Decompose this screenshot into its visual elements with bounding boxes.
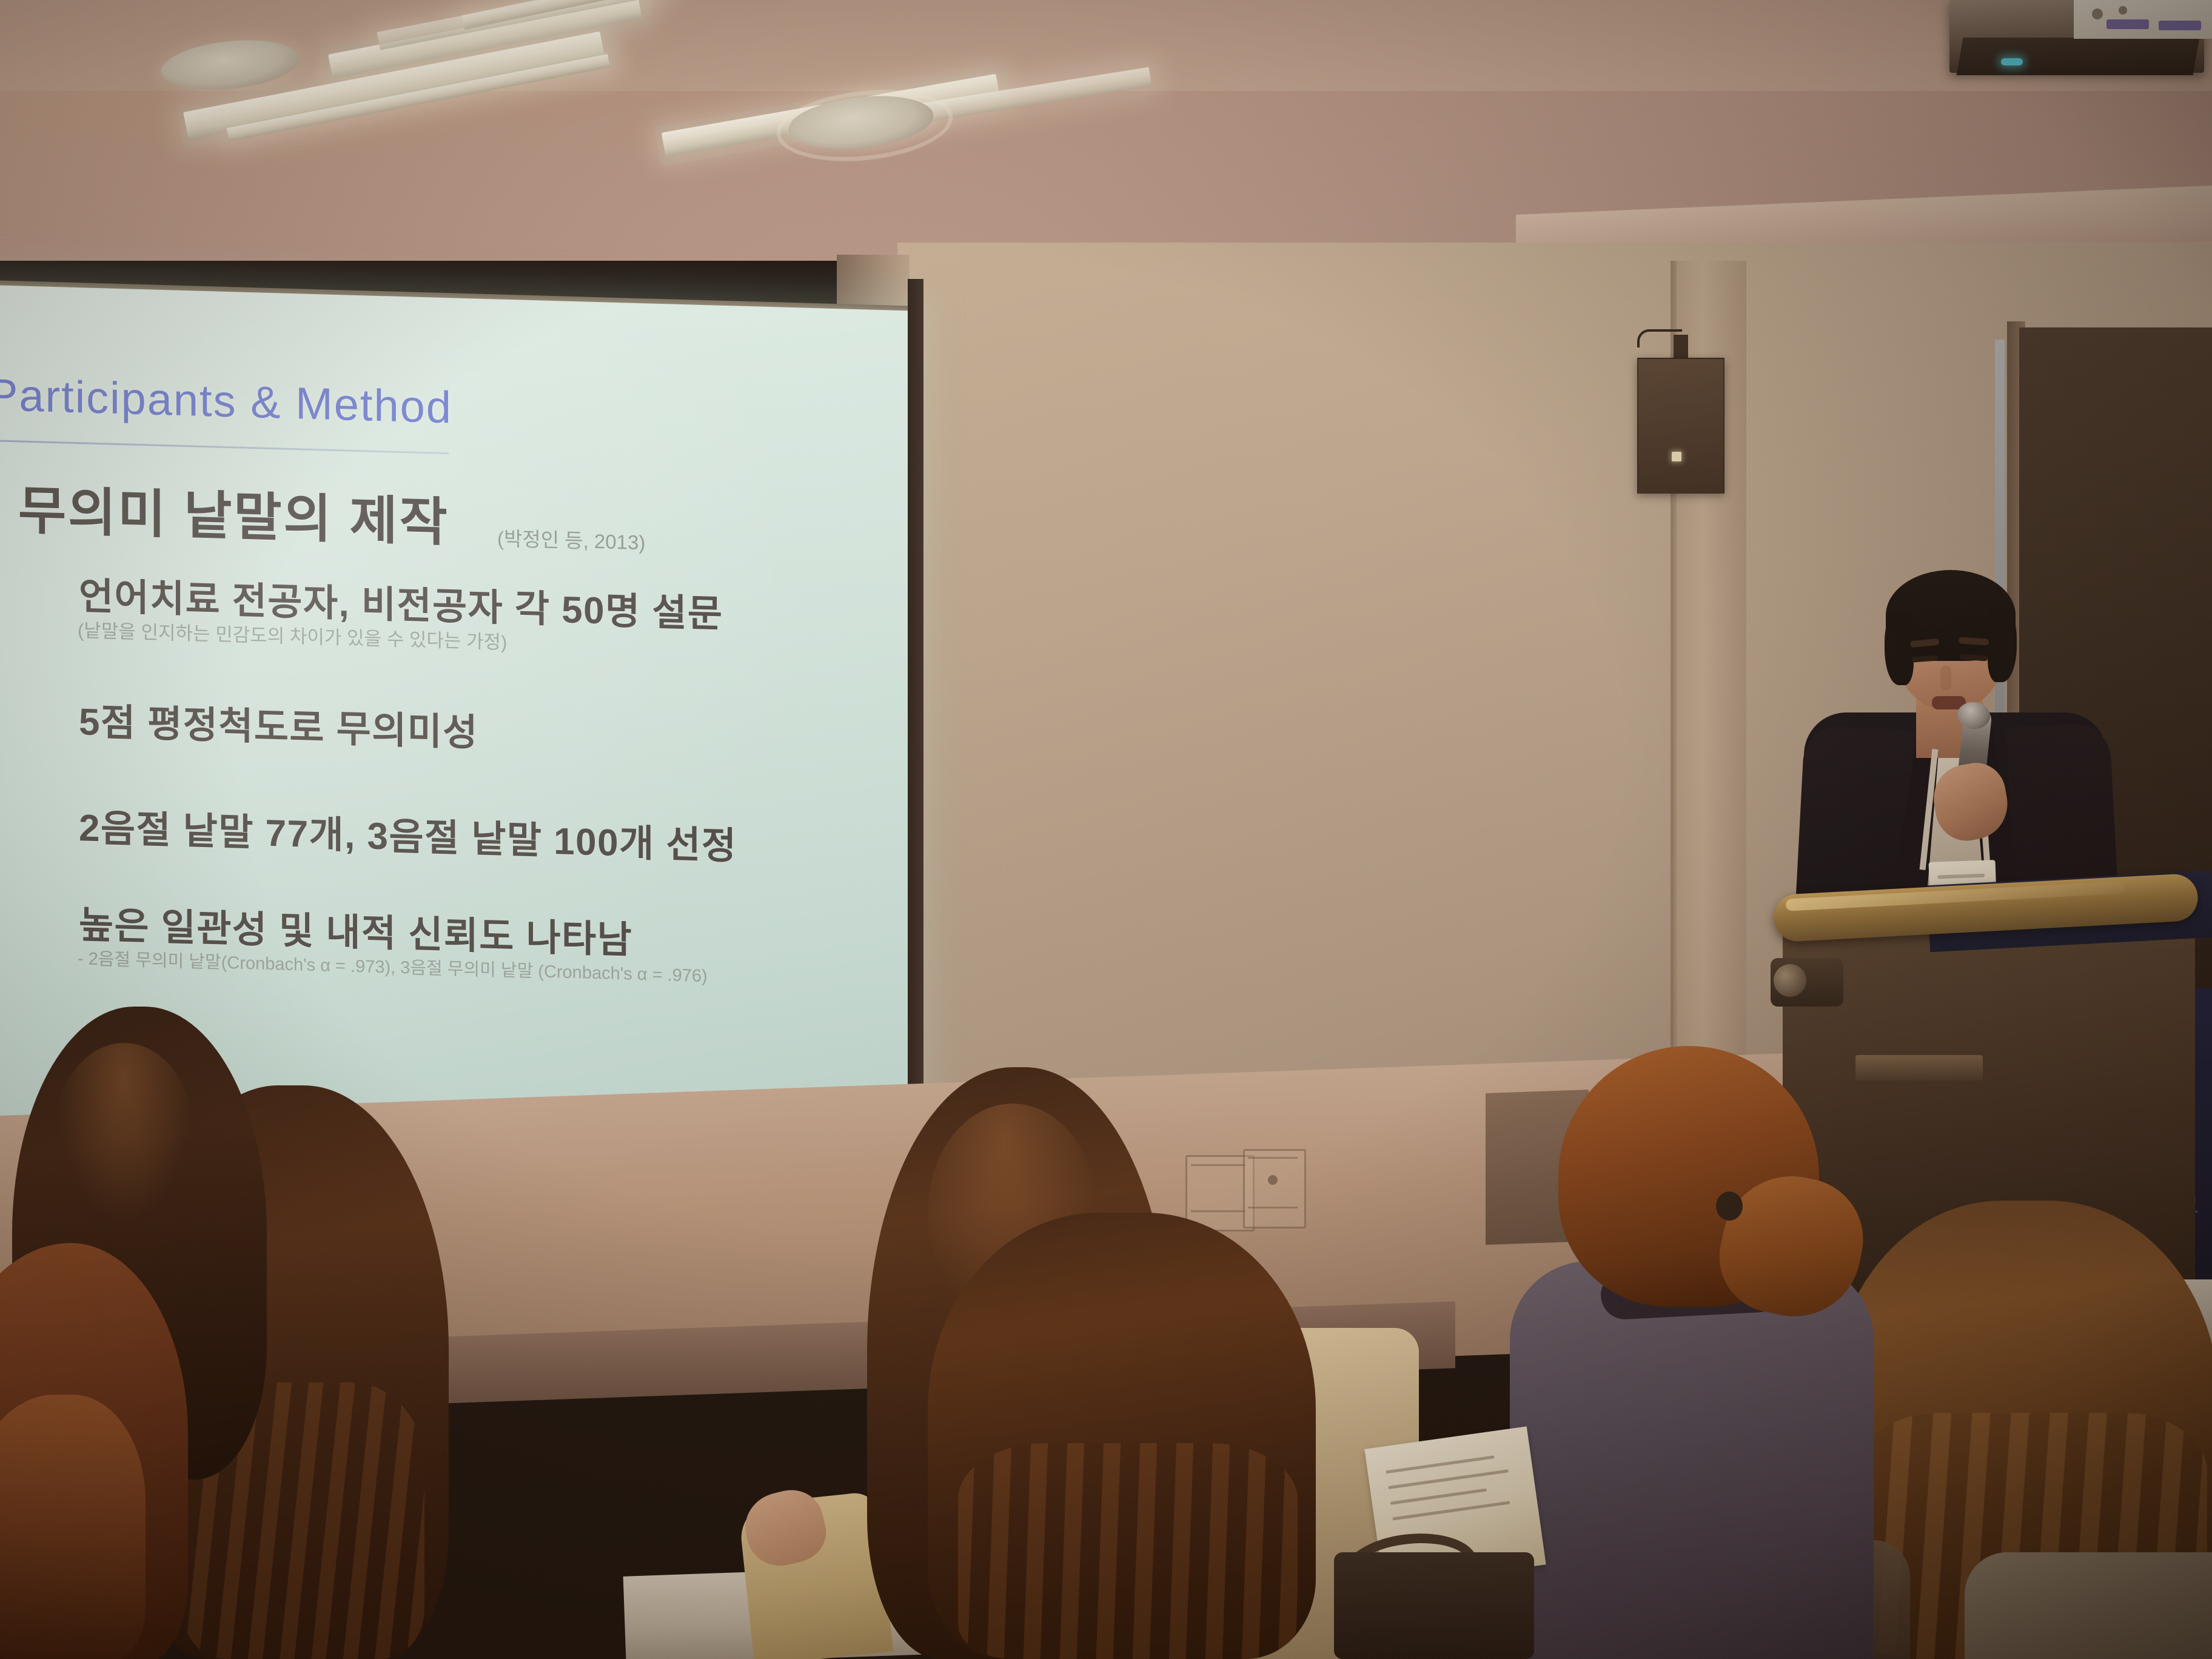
outlet-socket <box>1268 1175 1278 1185</box>
presenter-hair-side <box>1885 612 1914 685</box>
audience-hair-strand <box>0 1395 146 1659</box>
outlet-line <box>1191 1210 1245 1212</box>
audience-hair-tie <box>1716 1191 1743 1221</box>
audience-member-ponytail-jacket <box>1510 1261 1874 1659</box>
presenter-nose <box>1940 666 1951 690</box>
booklet-text-line <box>1390 1489 1487 1505</box>
outlet-line <box>1191 1164 1245 1166</box>
badge-line <box>1937 874 1985 879</box>
booklet-text-line <box>1386 1455 1495 1473</box>
panel-bar <box>2106 19 2149 29</box>
speaker-indicator-led-icon <box>1672 452 1681 461</box>
audience-hair-highlight <box>55 1043 194 1225</box>
ceiling-access-panel <box>2074 0 2212 39</box>
handbag <box>1334 1552 1534 1659</box>
panel-dot <box>2092 8 2103 19</box>
screen-right-border <box>908 279 923 1122</box>
ceiling-projector-body <box>1957 38 2200 75</box>
wall-outlet-plate <box>1243 1149 1306 1228</box>
booklet-text-line <box>1392 1501 1510 1520</box>
slide-title: Participants & Method <box>0 369 452 433</box>
outlet-line <box>1248 1157 1298 1159</box>
outlet-line <box>1248 1207 1298 1208</box>
slide-bullet-3: 2음절 낱말 77개, 3음절 낱말 100개 선정 <box>79 797 737 870</box>
slide-title-underline <box>0 440 449 454</box>
slide-citation: (박정인 등, 2013) <box>497 522 645 555</box>
podium-front-panel <box>1855 1055 1983 1081</box>
wall-speaker <box>1637 358 1724 494</box>
podium-knob <box>1774 964 1806 997</box>
panel-dot <box>2119 6 2127 15</box>
audience-shoulder <box>1965 1552 2212 1659</box>
conference-photo-scene: Participants & Method 무의미 낱말의 제작 (박정인 등,… <box>0 0 2212 1659</box>
panel-bar <box>2159 21 2201 30</box>
projector-power-led-icon <box>2001 58 2023 65</box>
slide-heading: 무의미 낱말의 제작 <box>18 468 449 555</box>
booklet-text-line <box>1388 1469 1509 1489</box>
audience-hair-waves <box>958 1443 1298 1659</box>
slide-bullet-2: 5점 평정척도로 무의미성 <box>79 691 478 756</box>
presenter-hair-side <box>1988 609 2017 682</box>
